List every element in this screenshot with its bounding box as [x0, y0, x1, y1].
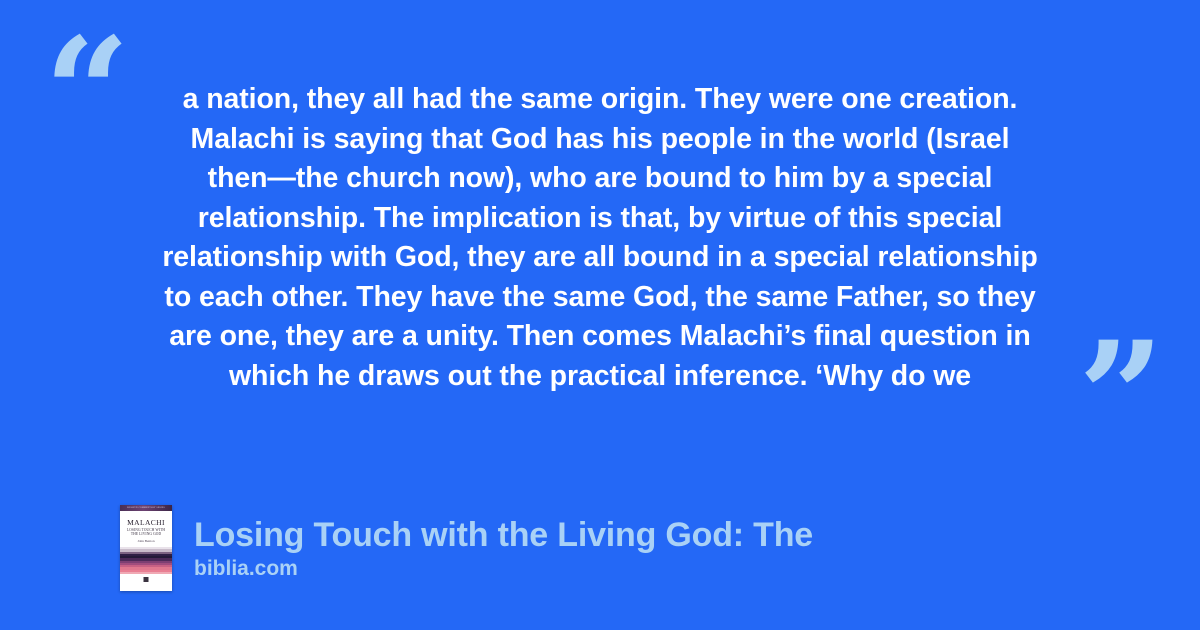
book-cover-title: MALACHI: [122, 519, 170, 527]
source-domain[interactable]: biblia.com: [194, 555, 813, 582]
book-cover-author: John Benton: [123, 539, 169, 543]
book-title[interactable]: Losing Touch with the Living God: The: [194, 515, 813, 555]
book-cover-series-text: WELWYN COMMENTARY SERIES: [120, 506, 172, 510]
book-cover-subtitle: LOSING TOUCH WITH THE LIVING GOD: [123, 528, 169, 537]
footer[interactable]: WELWYN COMMENTARY SERIES MALACHI LOSING …: [120, 505, 813, 591]
footer-text-group: Losing Touch with the Living God: The bi…: [194, 515, 813, 582]
book-cover-thumbnail[interactable]: WELWYN COMMENTARY SERIES MALACHI LOSING …: [120, 505, 172, 591]
close-quote-icon: ”: [1078, 322, 1166, 472]
book-cover-series-bar: WELWYN COMMENTARY SERIES: [120, 505, 172, 511]
book-cover-publisher-logo-icon: [144, 577, 149, 582]
quote-card: “ a nation, they all had the same origin…: [0, 0, 1200, 630]
book-cover-band: [120, 572, 172, 574]
quote-text: a nation, they all had the same origin. …: [108, 80, 1092, 396]
quote-body: a nation, they all had the same origin. …: [108, 80, 1092, 396]
book-cover-color-bands: [120, 547, 172, 574]
